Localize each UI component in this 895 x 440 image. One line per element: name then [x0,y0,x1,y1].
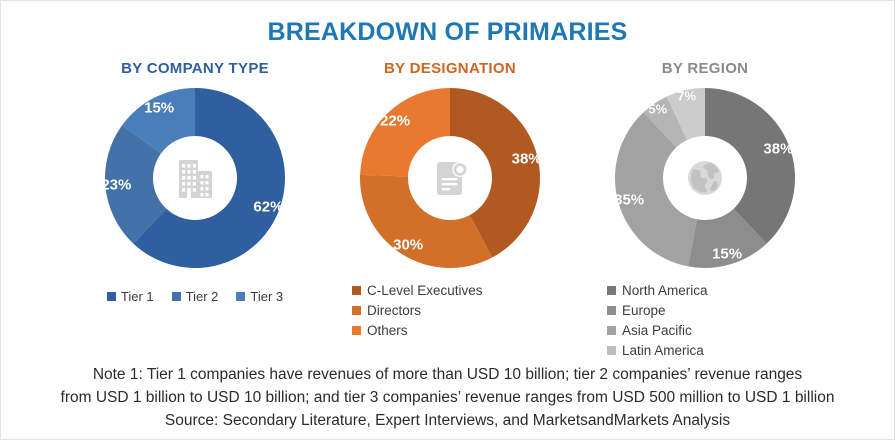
panel-title-designation: BY DESIGNATION [310,60,590,77]
donut-svg-company-type [102,85,288,271]
legend-item[interactable]: Tier 3 [236,289,283,304]
donut-chart-company-type[interactable]: 62%23%15% [102,85,288,271]
legend-swatch [607,326,616,335]
donut-slice[interactable] [360,175,492,268]
legend-swatch [172,292,181,301]
legend-swatch [352,326,361,335]
legend-item[interactable]: Directors [352,301,590,320]
legend-item[interactable]: North America [607,281,845,300]
panel-by-region: BY REGION 38%15%35%5%7% North America Eu… [565,60,845,361]
donut-chart-region[interactable]: 38%15%35%5%7% [612,85,798,271]
panel-title-region: BY REGION [565,60,845,77]
legend-label: Tier 1 [121,289,154,304]
legend-label: Directors [367,301,421,320]
footnote-line-3: Source: Secondary Literature, Expert Int… [0,409,895,432]
donut-svg-designation [357,85,543,271]
donut-chart-designation[interactable]: 38%30%22% [357,85,543,271]
legend-item[interactable]: Tier 1 [107,289,154,304]
footnote: Note 1: Tier 1 companies have revenues o… [0,363,895,432]
legend-label: Europe [622,301,666,320]
donut-svg-region [612,85,798,271]
legend-swatch [607,286,616,295]
legend-swatch [607,346,616,355]
legend-company-type: Tier 1 Tier 2 Tier 3 [55,289,335,304]
legend-region: North America Europe Asia Pacific Latin … [565,281,845,360]
panel-title-company-type: BY COMPANY TYPE [55,60,335,77]
legend-swatch [236,292,245,301]
footnote-line-1: Note 1: Tier 1 companies have revenues o… [0,363,895,386]
legend-swatch [352,306,361,315]
panel-by-designation: BY DESIGNATION 38%30%22% C-Level Executi… [310,60,590,341]
legend-label: Others [367,321,408,340]
legend-item[interactable]: Tier 2 [172,289,219,304]
legend-swatch [107,292,116,301]
legend-label: Tier 2 [186,289,219,304]
legend-label: Asia Pacific [622,321,692,340]
legend-label: C-Level Executives [367,281,483,300]
legend-item[interactable]: Latin America [607,341,845,360]
legend-label: Latin America [622,341,704,360]
page-title: BREAKDOWN OF PRIMARIES [0,18,895,47]
legend-designation: C-Level Executives Directors Others [310,281,590,340]
donut-slice[interactable] [360,88,450,177]
legend-item[interactable]: Asia Pacific [607,321,845,340]
legend-item[interactable]: C-Level Executives [352,281,590,300]
legend-item[interactable]: Europe [607,301,845,320]
panel-by-company-type: BY COMPANY TYPE 62%2 [55,60,335,304]
legend-item[interactable]: Others [352,321,590,340]
legend-swatch [352,286,361,295]
footnote-line-2: from USD 1 billion to USD 10 billion; an… [0,386,895,409]
legend-label: Tier 3 [250,289,283,304]
legend-label: North America [622,281,708,300]
legend-swatch [607,306,616,315]
